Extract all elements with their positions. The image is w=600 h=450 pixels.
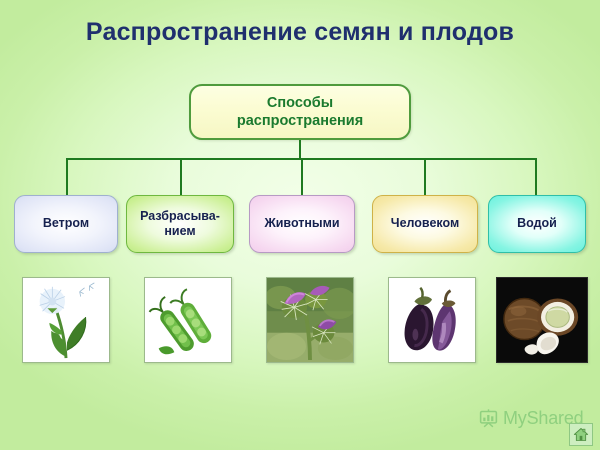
diagram-node-animals[interactable]: Животными [249, 195, 355, 253]
node-label-wind: Ветром [39, 216, 93, 231]
connector-drop-water [535, 158, 537, 196]
root-label-line1: Способы [267, 95, 333, 111]
dandelion-photo [22, 277, 110, 363]
slide-canvas: Распространение семян и плодов Способы р… [0, 0, 600, 450]
home-icon [573, 427, 589, 442]
myshared-watermark: MyShared [478, 408, 583, 429]
presentation-board-icon [478, 408, 499, 429]
home-button[interactable] [569, 423, 593, 446]
diagram-node-human[interactable]: Человеком [372, 195, 478, 253]
node-label-scatter-line1: Разбрасыва- [140, 209, 220, 223]
connector-root-stem [299, 140, 301, 159]
node-label-water: Водой [513, 216, 561, 231]
node-label-scatter: Разбрасыва- нием [136, 209, 224, 240]
coconut-photo [496, 277, 588, 363]
root-label-line2: распространения [237, 113, 363, 129]
node-label-human: Человеком [387, 216, 463, 231]
connector-drop-scatter [180, 158, 182, 196]
diagram-node-wind[interactable]: Ветром [14, 195, 118, 253]
connector-drop-human [424, 158, 426, 196]
node-label-scatter-line2: нием [164, 224, 195, 238]
diagram-node-scatter[interactable]: Разбрасыва- нием [126, 195, 234, 253]
connector-drop-wind [66, 158, 68, 196]
thistle-burdock-photo [266, 277, 354, 363]
node-label-animals: Животными [260, 216, 343, 231]
diagram-node-water[interactable]: Водой [488, 195, 586, 253]
diagram-root-label: Способы распространения [237, 94, 363, 130]
page-title: Распространение семян и плодов [0, 18, 600, 47]
pea-pods-photo [144, 277, 232, 363]
diagram-root-node[interactable]: Способы распространения [189, 84, 411, 140]
connector-drop-animals [301, 158, 303, 196]
eggplant-photo [388, 277, 476, 363]
